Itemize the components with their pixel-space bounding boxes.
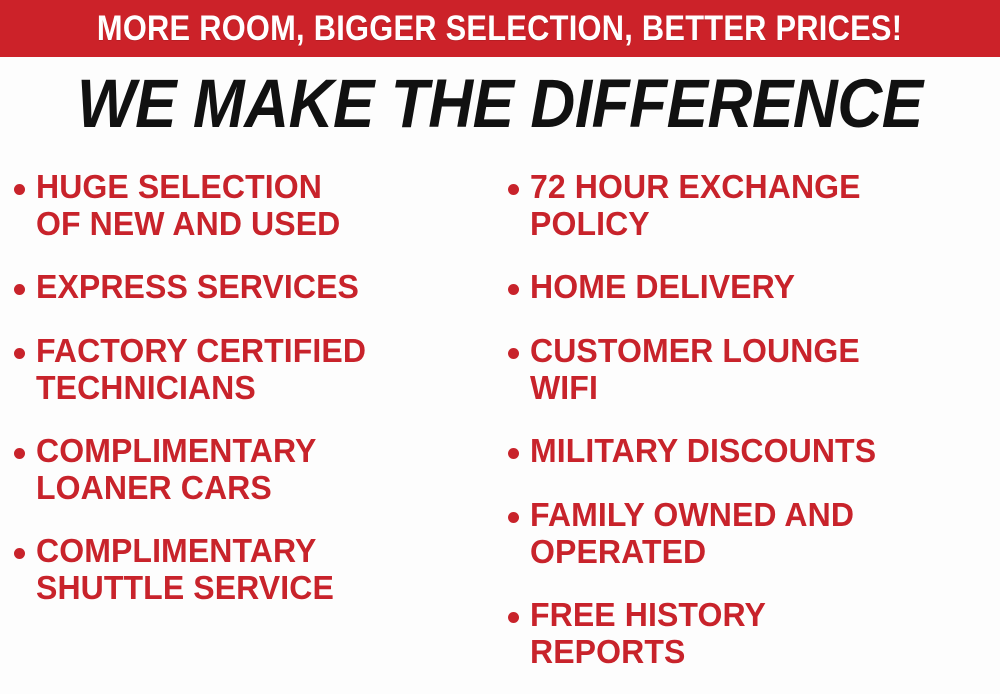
list-item: FACTORY CERTIFIED TECHNICIANS xyxy=(14,332,376,406)
bullet-dot-icon xyxy=(14,448,25,459)
headline-container: WE MAKE THE DIFFERENCE xyxy=(0,62,1000,144)
list-item: HOME DELIVERY xyxy=(508,268,803,305)
list-item-label: FAMILY OWNED AND OPERATED xyxy=(530,496,854,570)
bullet-dot-icon xyxy=(508,512,519,523)
benefits-columns: HUGE SELECTION OF NEW AND USED EXPRESS S… xyxy=(0,152,1000,694)
list-item-label: HUGE SELECTION OF NEW AND USED xyxy=(36,168,340,242)
list-item-label: HOME DELIVERY xyxy=(530,268,795,305)
dealership-benefits-poster: MORE ROOM, BIGGER SELECTION, BETTER PRIC… xyxy=(0,0,1000,694)
list-item-label: COMPLIMENTARY SHUTTLE SERVICE xyxy=(36,532,334,606)
bullet-dot-icon xyxy=(508,284,519,295)
list-item: MILITARY DISCOUNTS xyxy=(508,432,887,469)
list-item-label: CUSTOMER LOUNGE WIFI xyxy=(530,332,860,406)
list-item-label: FREE HISTORY REPORTS xyxy=(530,596,766,670)
list-item: COMPLIMENTARY LOANER CARS xyxy=(14,432,325,506)
bullet-dot-icon xyxy=(14,284,25,295)
list-item: FREE HISTORY REPORTS xyxy=(508,596,773,670)
bullet-dot-icon xyxy=(508,612,519,623)
bullet-dot-icon xyxy=(508,184,519,195)
list-item: COMPLIMENTARY SHUTTLE SERVICE xyxy=(14,532,343,606)
list-item-label: MILITARY DISCOUNTS xyxy=(530,432,876,469)
list-item-label: 72 HOUR EXCHANGE POLICY xyxy=(530,168,861,242)
bullet-dot-icon xyxy=(508,348,519,359)
list-item: HUGE SELECTION OF NEW AND USED xyxy=(14,168,350,242)
list-item-label: EXPRESS SERVICES xyxy=(36,268,359,305)
list-item: CUSTOMER LOUNGE WIFI xyxy=(508,332,870,406)
bullet-dot-icon xyxy=(508,448,519,459)
benefits-column-right: 72 HOUR EXCHANGE POLICY HOME DELIVERY CU… xyxy=(508,152,1000,694)
benefits-column-left: HUGE SELECTION OF NEW AND USED EXPRESS S… xyxy=(14,152,500,694)
list-item-label: FACTORY CERTIFIED TECHNICIANS xyxy=(36,332,366,406)
bullet-dot-icon xyxy=(14,348,25,359)
list-item: EXPRESS SERVICES xyxy=(14,268,369,305)
page-title: WE MAKE THE DIFFERENCE xyxy=(77,69,923,138)
top-banner: MORE ROOM, BIGGER SELECTION, BETTER PRIC… xyxy=(0,0,1000,57)
list-item: 72 HOUR EXCHANGE POLICY xyxy=(508,168,871,242)
list-item: FAMILY OWNED AND OPERATED xyxy=(508,496,864,570)
bullet-dot-icon xyxy=(14,184,25,195)
list-item-label: COMPLIMENTARY LOANER CARS xyxy=(36,432,316,506)
banner-headline-text: MORE ROOM, BIGGER SELECTION, BETTER PRIC… xyxy=(97,11,902,46)
bullet-dot-icon xyxy=(14,548,25,559)
